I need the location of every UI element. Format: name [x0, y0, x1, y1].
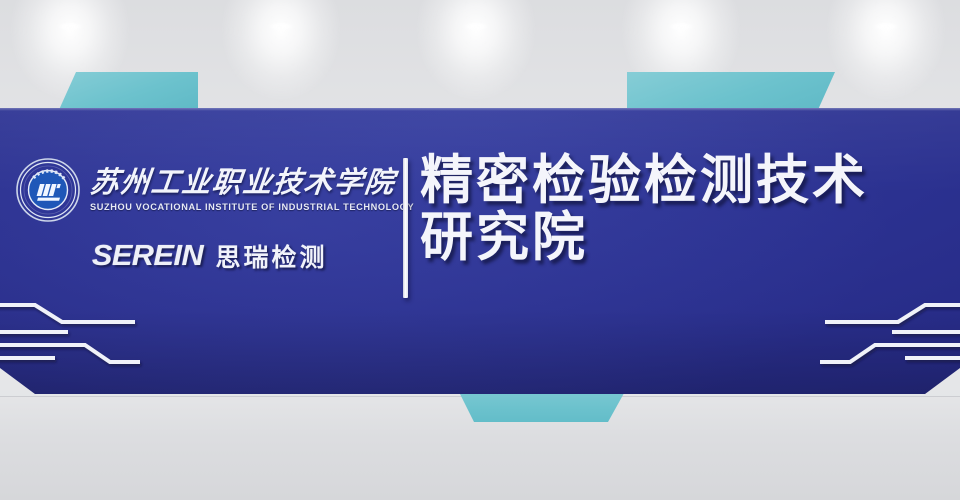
headline-line-1: 精密检验检测技术 — [420, 152, 950, 209]
university-name-en: SUZHOU VOCATIONAL INSTITUTE OF INDUSTRIA… — [90, 202, 414, 212]
teal-accent-top-right — [627, 72, 835, 112]
spotlight-core-icon — [57, 22, 83, 31]
partner-name-cn: 思瑞检测 — [215, 238, 327, 274]
vertical-divider — [403, 158, 408, 298]
partner-logo-row: SEREIN 思瑞检测 — [16, 238, 396, 274]
university-logo-row: 苏州工业职业技术学院 SUZHOU VOCATIONAL INSTITUTE O… — [16, 158, 396, 222]
institute-headline: 精密检验检测技术 研究院 — [420, 152, 950, 266]
spotlight-core-icon — [668, 22, 694, 31]
board-top-highlight — [0, 108, 960, 111]
spotlight-core-icon — [463, 22, 489, 31]
logo-lockup: 苏州工业职业技术学院 SUZHOU VOCATIONAL INSTITUTE O… — [16, 158, 396, 274]
partner-name-en: SEREIN — [91, 240, 202, 273]
spotlight-core-icon — [268, 22, 294, 31]
university-text: 苏州工业职业技术学院 SUZHOU VOCATIONAL INSTITUTE O… — [90, 168, 414, 213]
university-name-cn: 苏州工业职业技术学院 — [88, 168, 415, 199]
spotlight-core-icon — [873, 22, 899, 31]
signage-scene: 苏州工业职业技术学院 SUZHOU VOCATIONAL INSTITUTE O… — [0, 0, 960, 500]
teal-accent-top-left — [58, 72, 198, 112]
headline-line-2: 研究院 — [420, 209, 950, 266]
siit-emblem-icon — [16, 158, 80, 222]
